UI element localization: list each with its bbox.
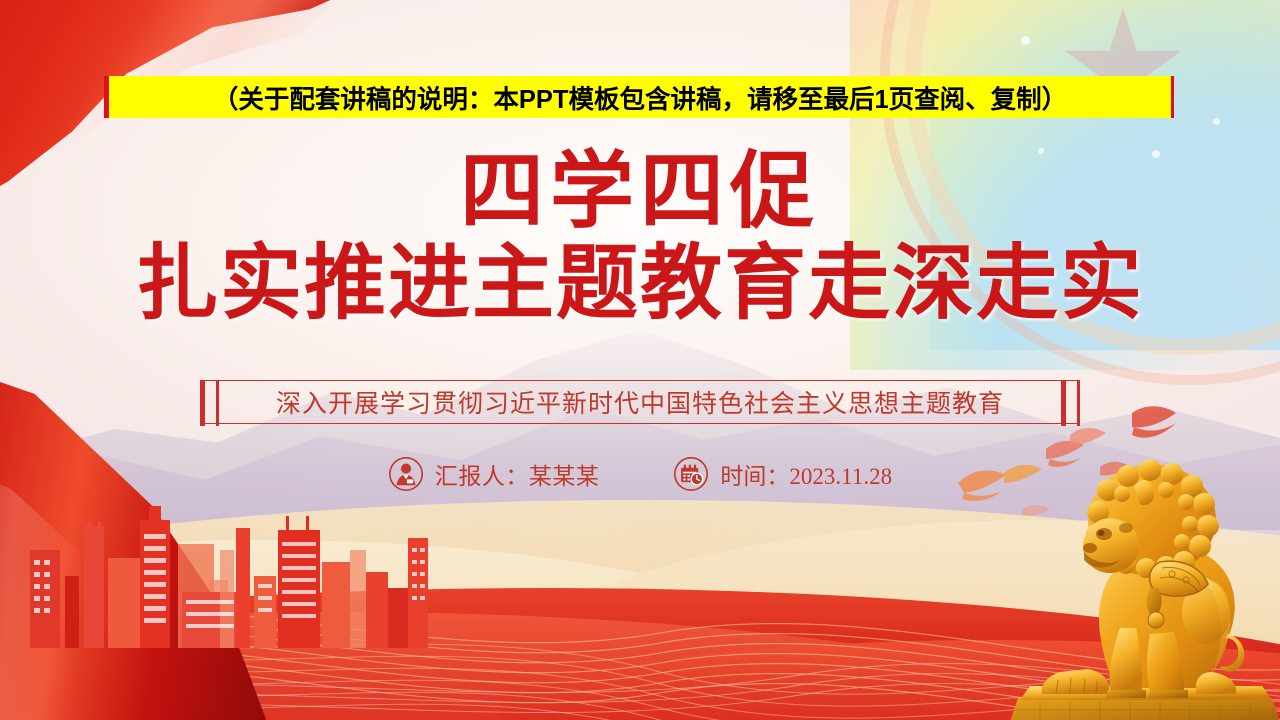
ppt-cover-slide: （关于配套讲稿的说明：本PPT模板包含讲稿，请移至最后1页查阅、复制） 四学四促… bbox=[0, 0, 1280, 720]
presenter-value: 某某某 bbox=[529, 464, 600, 489]
presenter-block: 汇报人：某某某 bbox=[388, 456, 600, 492]
sparkle-dot bbox=[1021, 36, 1030, 45]
notice-banner-text: （关于配套讲稿的说明：本PPT模板包含讲稿，请移至最后1页查阅、复制） bbox=[213, 79, 1067, 116]
title-line-1: 四学四促 bbox=[0, 150, 1280, 236]
person-badge-icon bbox=[388, 456, 424, 492]
date-value: 2023.11.28 bbox=[789, 464, 892, 489]
calendar-clock-icon bbox=[673, 456, 709, 492]
meta-row: 汇报人：某某某 bbox=[0, 456, 1280, 492]
presenter-label: 汇报人：某某某 bbox=[435, 457, 600, 491]
title-line-2: 扎实推进主题教育走深走实 bbox=[0, 236, 1280, 331]
subtitle-text: 深入开展学习贯彻习近平新时代中国特色社会主义思想主题教育 bbox=[276, 384, 1004, 420]
date-label-text: 时间： bbox=[720, 464, 789, 489]
notice-banner: （关于配套讲稿的说明：本PPT模板包含讲稿，请移至最后1页查阅、复制） bbox=[104, 76, 1174, 118]
date-block: 时间：2023.11.28 bbox=[673, 456, 892, 492]
presenter-label-text: 汇报人： bbox=[435, 464, 529, 489]
red-city-skyline bbox=[10, 488, 430, 648]
date-label: 时间：2023.11.28 bbox=[720, 457, 892, 491]
subtitle-box: 深入开展学习贯彻习近平新时代中国特色社会主义思想主题教育 bbox=[200, 380, 1080, 424]
sparkle-dot bbox=[1213, 118, 1220, 125]
page-title: 四学四促 扎实推进主题教育走深走实 bbox=[0, 150, 1280, 331]
